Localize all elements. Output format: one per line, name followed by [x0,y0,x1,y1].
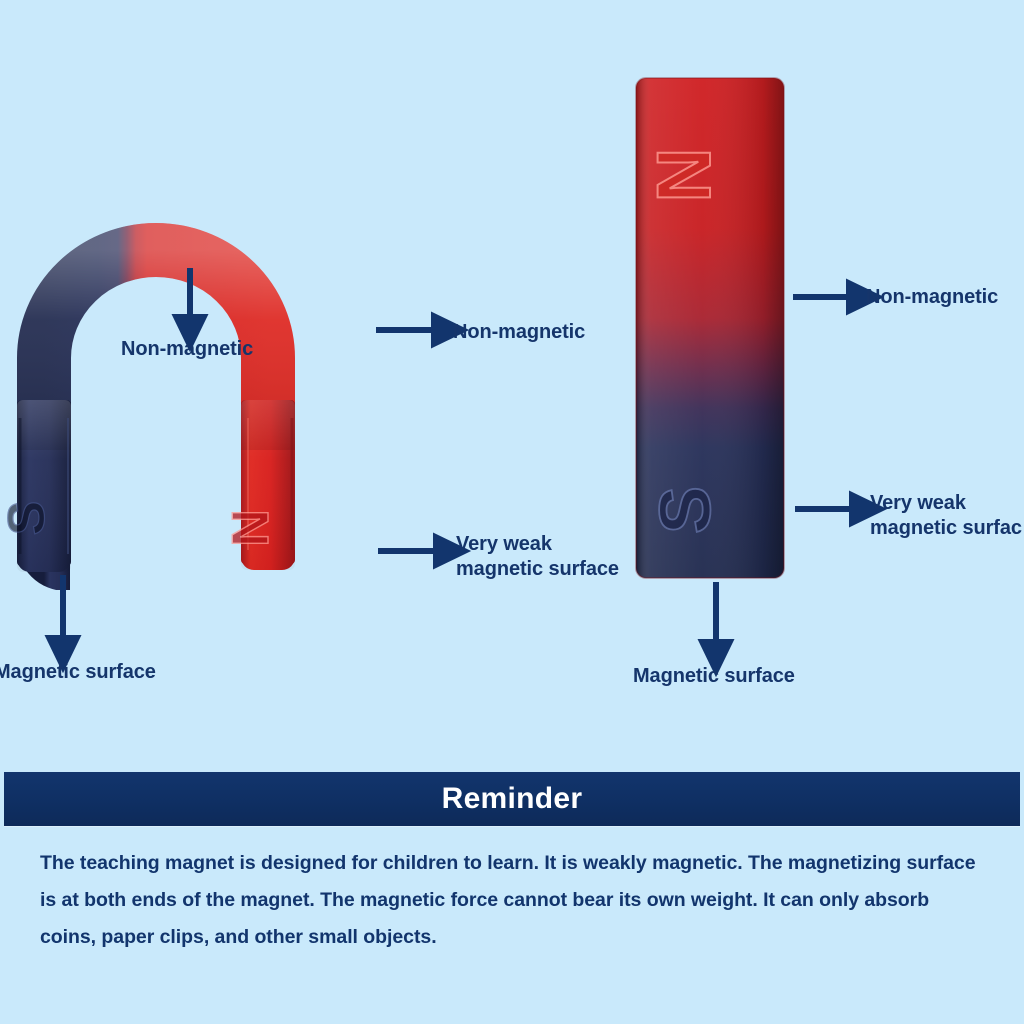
svg-text:S: S [646,486,726,534]
magnet-diagram: S N [0,0,1024,762]
pole-letter-s: S [6,501,56,536]
label-bar-side-face: Non-magnetic [866,285,998,310]
label-horseshoe-inner-arc: Non-magnetic [121,337,253,362]
label-line-1: Very weak [456,532,656,557]
label-horseshoe-south-pole: Magnetic surface [0,660,156,685]
label-line-2: magnetic surfac [870,516,1024,541]
bar-magnet: N S [630,70,790,590]
label-bar-south-pole: Very weak magnetic surfac [870,491,1024,541]
label-line-1: Very weak [870,491,1024,516]
reminder-body-text: The teaching magnet is designed for chil… [40,845,984,956]
label-horseshoe-north-pole: Very weak magnetic surface [456,532,656,582]
reminder-banner: Reminder [4,772,1020,826]
label-line-2: magnetic surface [456,557,656,582]
pole-letter-n: N [222,509,280,547]
reminder-title: Reminder [442,782,583,816]
svg-text:S: S [6,501,56,536]
pole-letter-s: S [646,486,726,534]
label-horseshoe-outer-arc: Non-magnetic [453,320,585,345]
product-infographic: S N [0,0,1024,1024]
svg-text:N: N [642,148,727,203]
horseshoe-magnet: S N [6,150,386,590]
label-bar-bottom-face: Magnetic surface [633,664,795,689]
pole-letter-n: N [642,148,727,203]
svg-text:N: N [222,509,280,547]
